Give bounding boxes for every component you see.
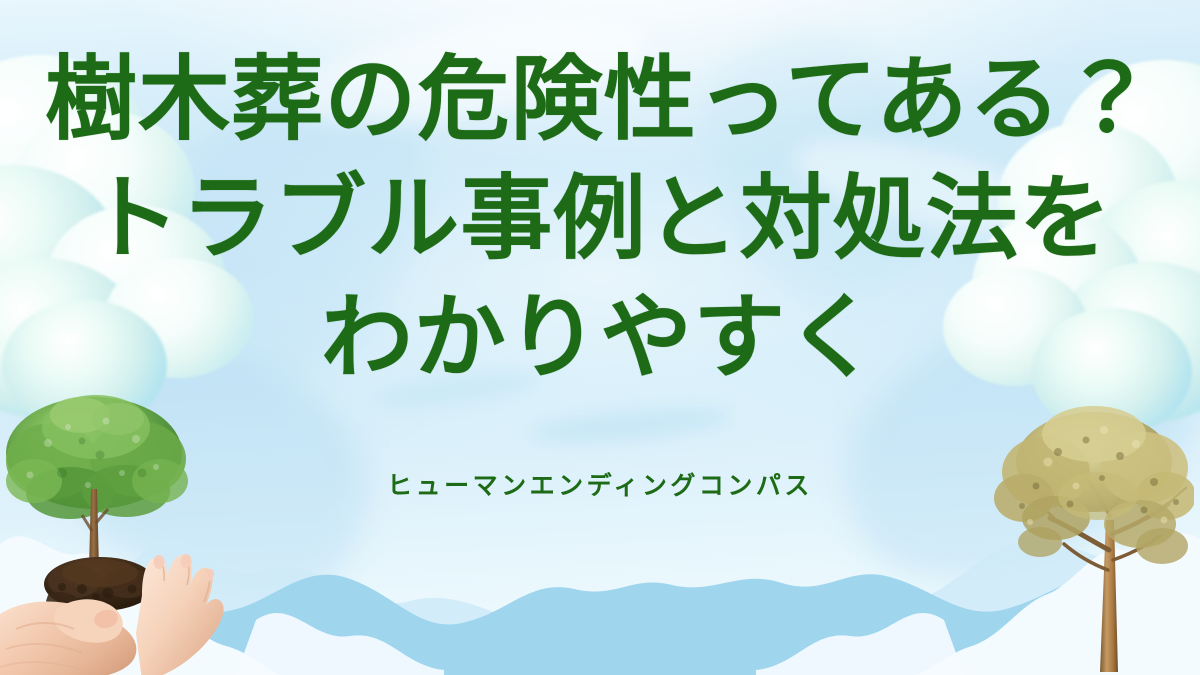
- thumbnail-canvas: 樹木葬の危険性ってある？ トラブル事例と対処法を わかりやすく ヒューマンエンデ…: [0, 0, 1200, 675]
- soil-clump: [44, 557, 156, 611]
- right-hand: [136, 554, 224, 675]
- hands-holding-sapling-illustration: [0, 381, 256, 675]
- title-line-1: 樹木葬の危険性ってある？: [0, 54, 1200, 146]
- title-line-3: わかりやすく: [0, 292, 1200, 384]
- wave-band-blue: [0, 535, 1200, 675]
- tall-tree-illustration: [994, 400, 1194, 675]
- site-name: ヒューマンエンディングコンパス: [0, 466, 1200, 502]
- wave-band-pale: [0, 485, 1200, 675]
- tree-trunk: [1100, 520, 1118, 672]
- sky-streak-2: [527, 403, 733, 448]
- wave-band-white: [0, 500, 1200, 675]
- left-hand: [0, 599, 136, 675]
- title-line-2: トラブル事例と対処法を: [0, 173, 1200, 265]
